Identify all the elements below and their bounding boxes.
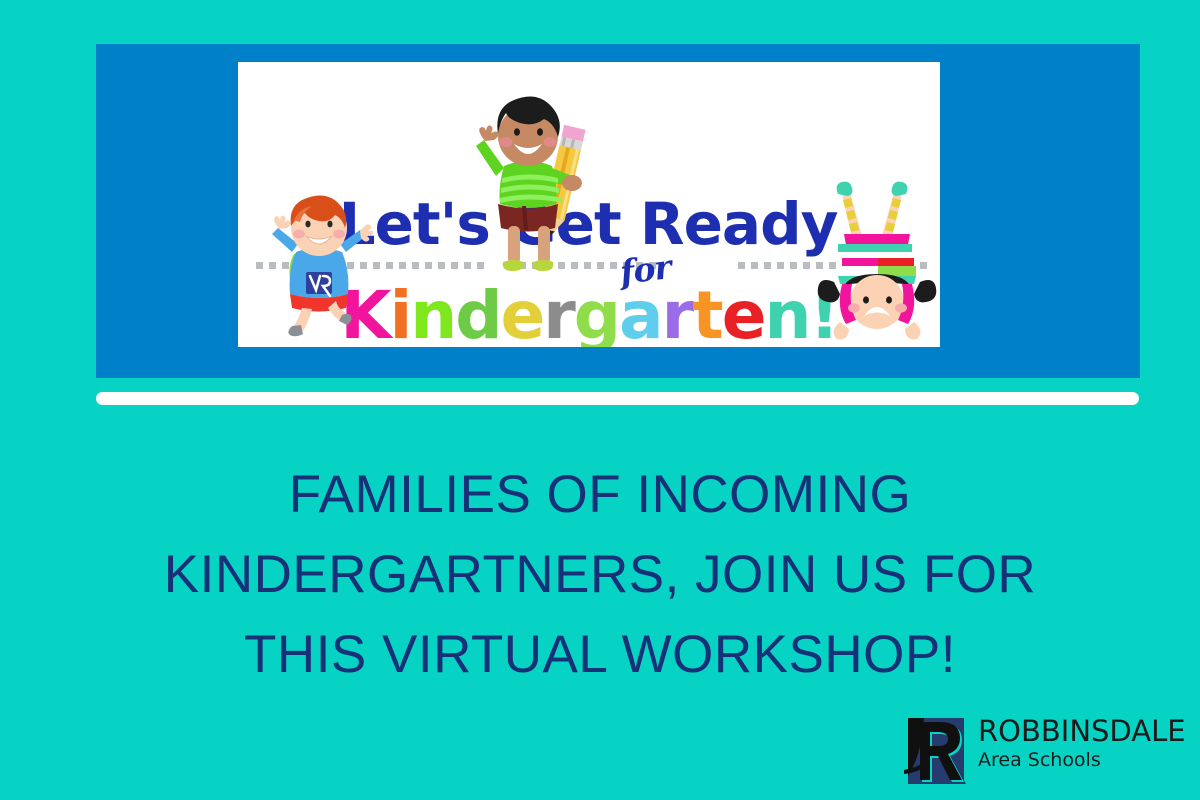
wordmark-letter-11: n bbox=[764, 277, 809, 347]
boy-holding-pencil-illustration bbox=[460, 90, 602, 280]
wordmark-letter-3: d bbox=[455, 277, 500, 347]
white-divider-rule bbox=[96, 392, 1139, 405]
wordmark-letter-9: t bbox=[692, 277, 722, 347]
robbinsdale-area-schools-logo: ROBBINSDALE Area Schools bbox=[898, 712, 1188, 790]
slide-canvas: Let's Get Ready for Kindergarten! bbox=[0, 0, 1200, 800]
blue-banner: Let's Get Ready for Kindergarten! bbox=[96, 44, 1140, 378]
boy-jumping-red-hair-illustration bbox=[268, 190, 378, 338]
wordmark-letter-8: r bbox=[662, 277, 693, 347]
page-title: FAMILIES OF INCOMING KINDERGARTNERS, JOI… bbox=[100, 455, 1100, 695]
logo-subtitle: Area Schools bbox=[978, 748, 1188, 772]
wordmark-letter-2: n bbox=[410, 277, 455, 347]
wordmark-letter-1: i bbox=[390, 277, 411, 347]
logo-wordmark: ROBBINSDALE Area Schools bbox=[978, 714, 1188, 772]
wordmark-letter-4: e bbox=[500, 277, 543, 347]
girl-handstand-with-books-illustration bbox=[816, 174, 938, 342]
headline-line-3: THIS VIRTUAL WORKSHOP! bbox=[100, 615, 1100, 695]
headline-line-2: KINDERGARTNERS, JOIN US FOR bbox=[100, 535, 1100, 615]
robbinsdale-r-mark-icon bbox=[898, 712, 974, 790]
wordmark-letter-7: a bbox=[619, 277, 662, 347]
wordmark-letter-10: e bbox=[722, 277, 765, 347]
wordmark-letter-6: g bbox=[574, 277, 619, 347]
logo-title: ROBBINSDALE bbox=[978, 714, 1188, 748]
headline-line-1: FAMILIES OF INCOMING bbox=[100, 455, 1100, 535]
kindergarten-graphic: Let's Get Ready for Kindergarten! bbox=[238, 62, 940, 347]
wordmark-letter-5: r bbox=[543, 277, 574, 347]
